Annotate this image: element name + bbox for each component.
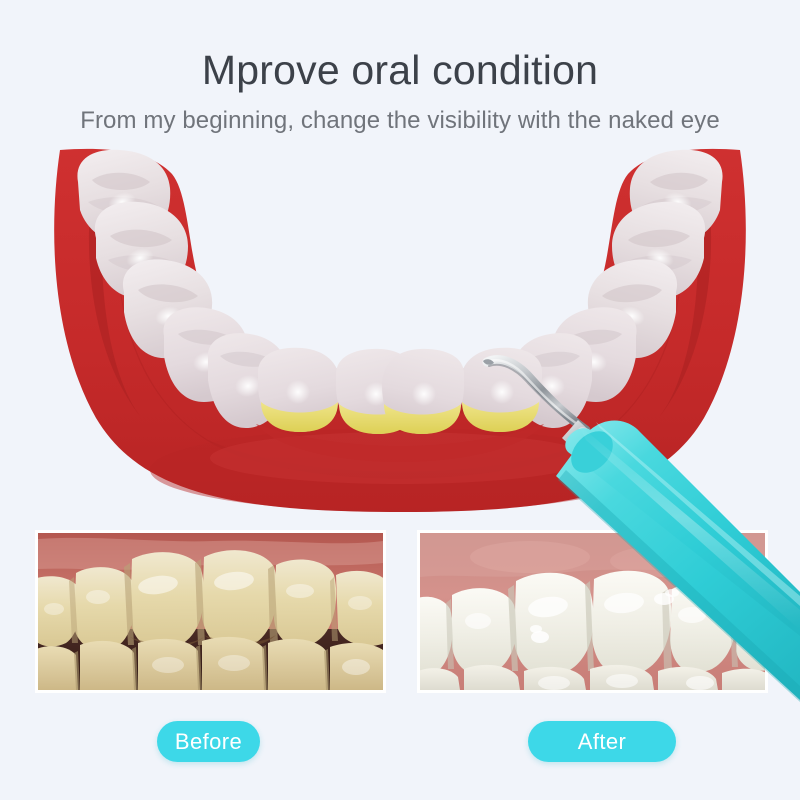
page-title: Mprove oral condition bbox=[0, 46, 800, 94]
before-teeth-photo bbox=[35, 530, 386, 693]
before-label-badge: Before bbox=[157, 721, 260, 762]
after-label-badge: After bbox=[528, 721, 676, 762]
page-subtitle: From my beginning, change the visibility… bbox=[0, 106, 800, 136]
after-teeth-photo bbox=[417, 530, 768, 693]
jaw-illustration bbox=[0, 140, 800, 540]
product-marketing-image: Mprove oral condition From my beginning,… bbox=[0, 0, 800, 800]
